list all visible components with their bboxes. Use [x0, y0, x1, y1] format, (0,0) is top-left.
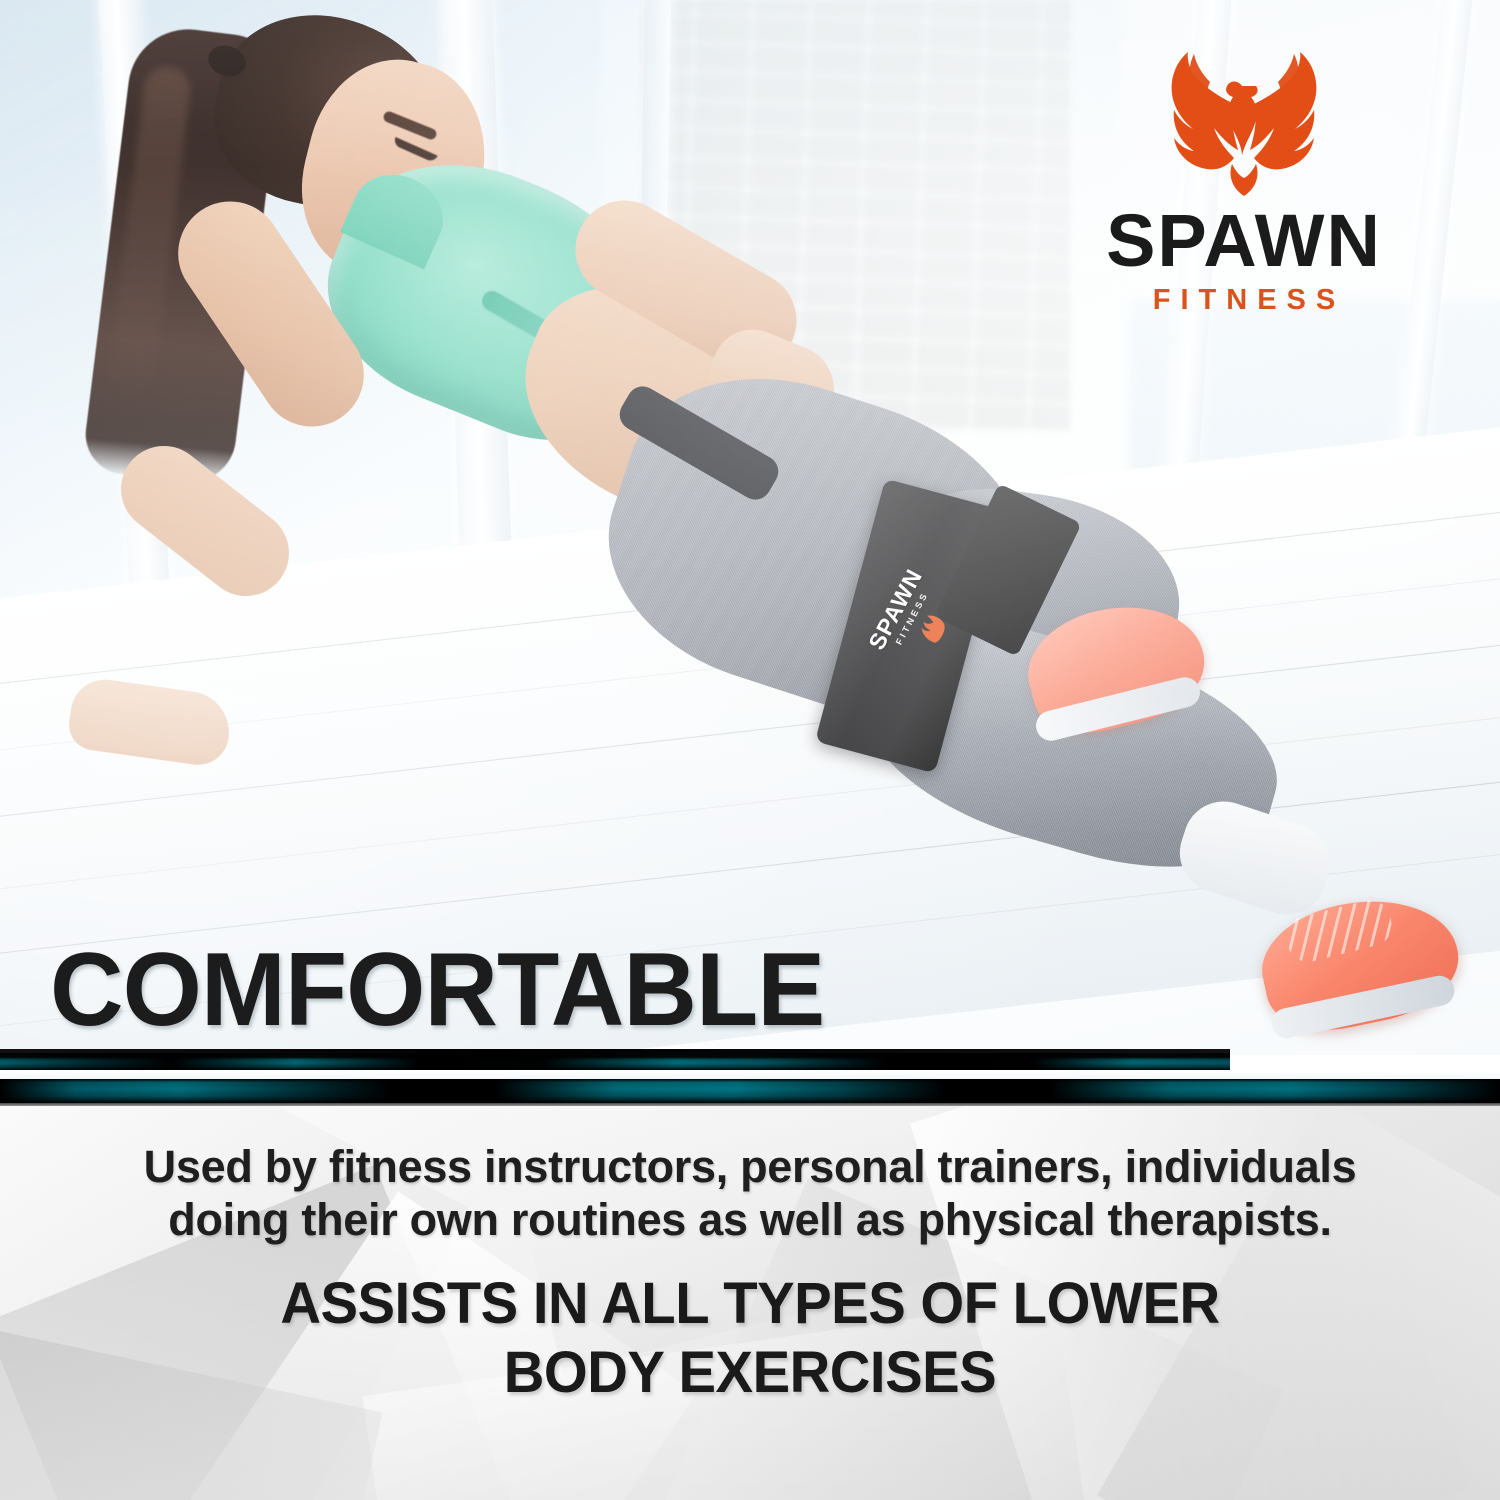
phoenix-flame-icon [1094, 52, 1394, 202]
benefit-line-1: ASSISTS IN ALL TYPES OF LOWER [23, 1272, 1478, 1337]
benefit-line-2: BODY EXERCISES [23, 1341, 1478, 1406]
brand-tagline: FITNESS [1094, 284, 1394, 317]
divider-gap [0, 1070, 1500, 1079]
subhead-line-1: Used by fitness instructors, personal tr… [46, 1140, 1454, 1193]
brand-logo: SPAWN FITNESS [1094, 52, 1394, 317]
brand-name: SPAWN [1094, 204, 1394, 278]
product-marketing-poster: SPAWN FITNESS [0, 0, 1500, 1500]
page-title: COMFORTABLE [50, 938, 824, 1042]
supporting-hand [66, 675, 234, 769]
divider-bar-thin [0, 1053, 1230, 1070]
subhead-line-2: doing their own routines as well as phys… [46, 1193, 1454, 1246]
headline-band: COMFORTABLE [0, 926, 1500, 1054]
bottom-text-block: Used by fitness instructors, personal tr… [0, 1106, 1500, 1406]
bottom-copy-panel: Used by fitness instructors, personal tr… [0, 1106, 1500, 1500]
divider-bar-thick [0, 1079, 1500, 1103]
